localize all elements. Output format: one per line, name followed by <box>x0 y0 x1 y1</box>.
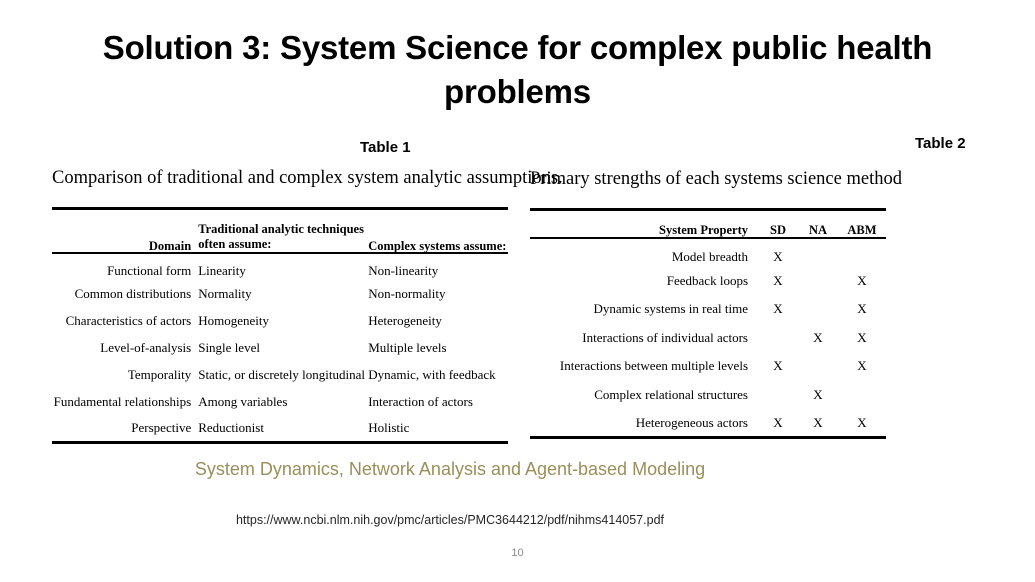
table-1-header-domain: Domain <box>52 209 198 254</box>
table-2-body: Model breadth X Feedback loops X X Dynam… <box>530 238 886 438</box>
table-2-header-property: System Property <box>530 210 758 238</box>
table-row: Interactions of individual actors X X <box>530 323 886 352</box>
table-row: Model breadth X <box>530 238 886 267</box>
slide-number: 10 <box>0 547 1035 559</box>
table-1-cell-traditional: Homogeneity <box>198 307 368 334</box>
table-2-cell-sd: X <box>758 238 798 267</box>
table-1-head: Domain Traditional analytic techniques o… <box>52 209 508 254</box>
table-2-cell-na: X <box>798 380 838 409</box>
table-2-cell-abm: X <box>838 266 886 295</box>
slide-canvas: Solution 3: System Science for complex p… <box>0 0 1035 582</box>
table-2-cell-sd <box>758 323 798 352</box>
table-1-label: Table 1 <box>360 139 411 156</box>
table-2-cell-property: Dynamic systems in real time <box>530 295 758 324</box>
source-url: https://www.ncbi.nlm.nih.gov/pmc/article… <box>0 513 900 527</box>
table-1-header-traditional-line2: often assume: <box>198 237 271 251</box>
table-2: System Property SD NA ABM Model breadth … <box>530 208 886 439</box>
table-row: Heterogeneous actors X X X <box>530 409 886 438</box>
table-row: Fundamental relationships Among variable… <box>52 388 508 415</box>
table-row: Characteristics of actors Homogeneity He… <box>52 307 508 334</box>
table-2-cell-sd: X <box>758 266 798 295</box>
table-2-cell-sd <box>758 380 798 409</box>
table-2-header-row: System Property SD NA ABM <box>530 210 886 238</box>
table-2-cell-sd: X <box>758 409 798 438</box>
table-row: Feedback loops X X <box>530 266 886 295</box>
table-1-cell-complex: Multiple levels <box>368 334 508 361</box>
table-2-label: Table 2 <box>915 135 966 152</box>
table-1-cell-complex: Non-linearity <box>368 253 508 280</box>
table-2-cell-abm <box>838 238 886 267</box>
table-row: Temporality Static, or discretely longit… <box>52 361 508 388</box>
table-row: Interactions between multiple levels X X <box>530 352 886 381</box>
table-2-cell-property: Complex relational structures <box>530 380 758 409</box>
table-2-cell-na: X <box>798 409 838 438</box>
table-1-cell-complex: Holistic <box>368 415 508 442</box>
table-1-cell-traditional: Static, or discretely longitudinal <box>198 361 368 388</box>
table-1-cell-traditional: Linearity <box>198 253 368 280</box>
table-2-cell-na <box>798 266 838 295</box>
table-2-cell-na <box>798 295 838 324</box>
table-row: Common distributions Normality Non-norma… <box>52 280 508 307</box>
table-2-cell-na: X <box>798 323 838 352</box>
table-2-cell-property: Interactions between multiple levels <box>530 352 758 381</box>
table-2-cell-abm: X <box>838 409 886 438</box>
table-1-body: Functional form Linearity Non-linearity … <box>52 253 508 442</box>
table-2-cell-property: Model breadth <box>530 238 758 267</box>
table-2-header-abm: ABM <box>838 210 886 238</box>
table-2-cell-abm: X <box>838 352 886 381</box>
table-1-cell-domain: Perspective <box>52 415 198 442</box>
table-1-cell-domain: Functional form <box>52 253 198 280</box>
table-row: Functional form Linearity Non-linearity <box>52 253 508 280</box>
table-1-cell-traditional: Normality <box>198 280 368 307</box>
table-2-cell-property: Feedback loops <box>530 266 758 295</box>
table-2-cell-na <box>798 352 838 381</box>
table-row: Dynamic systems in real time X X <box>530 295 886 324</box>
methods-caption: System Dynamics, Network Analysis and Ag… <box>0 459 900 480</box>
table-row: Level-of-analysis Single level Multiple … <box>52 334 508 361</box>
table-1-cell-traditional: Single level <box>198 334 368 361</box>
table-1-cell-traditional: Among variables <box>198 388 368 415</box>
table-1-caption: Comparison of traditional and complex sy… <box>52 168 563 189</box>
table-1-header-traditional: Traditional analytic techniques often as… <box>198 209 368 254</box>
table-2-cell-abm: X <box>838 323 886 352</box>
table-1: Domain Traditional analytic techniques o… <box>52 207 508 444</box>
table-2-caption: Primary strengths of each systems scienc… <box>530 169 902 190</box>
table-2-cell-sd: X <box>758 352 798 381</box>
table-2-cell-sd: X <box>758 295 798 324</box>
table-1-cell-domain: Fundamental relationships <box>52 388 198 415</box>
table-2-header-sd: SD <box>758 210 798 238</box>
table-1-cell-complex: Dynamic, with feedback <box>368 361 508 388</box>
table-2-cell-abm <box>838 380 886 409</box>
table-2-head: System Property SD NA ABM <box>530 210 886 238</box>
table-1-cell-complex: Heterogeneity <box>368 307 508 334</box>
table-1-header-complex: Complex systems assume: <box>368 209 508 254</box>
table-row: Complex relational structures X <box>530 380 886 409</box>
table-row: Perspective Reductionist Holistic <box>52 415 508 442</box>
table-1-header-traditional-line1: Traditional analytic techniques <box>198 222 364 236</box>
table-1-cell-complex: Non-normality <box>368 280 508 307</box>
table-1-cell-traditional: Reductionist <box>198 415 368 442</box>
table-2-cell-abm: X <box>838 295 886 324</box>
table-2-cell-property: Interactions of individual actors <box>530 323 758 352</box>
table-2-cell-na <box>798 238 838 267</box>
table-2-header-na: NA <box>798 210 838 238</box>
page-title: Solution 3: System Science for complex p… <box>60 26 975 114</box>
table-1-cell-domain: Temporality <box>52 361 198 388</box>
table-1-cell-complex: Interaction of actors <box>368 388 508 415</box>
table-2-cell-property: Heterogeneous actors <box>530 409 758 438</box>
table-1-cell-domain: Characteristics of actors <box>52 307 198 334</box>
table-1-cell-domain: Level-of-analysis <box>52 334 198 361</box>
table-1-header-row: Domain Traditional analytic techniques o… <box>52 209 508 254</box>
table-1-cell-domain: Common distributions <box>52 280 198 307</box>
